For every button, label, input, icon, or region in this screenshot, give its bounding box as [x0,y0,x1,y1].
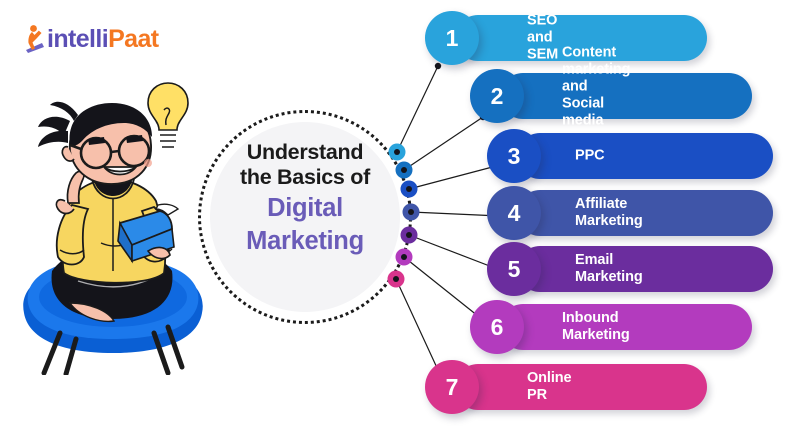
item-label: Online PR [527,370,572,404]
item-label: Content marketing andSocial media market… [562,45,630,148]
item-label: Affiliate Marketing [575,196,643,230]
hub-title: Understand the Basics of Digital Marketi… [204,140,406,257]
hub-title-line2: the Basics of [204,165,406,190]
item-number-badge[interactable]: 2 [470,69,524,123]
item-number-badge[interactable]: 7 [425,360,479,414]
item-label: Email Marketing [575,252,643,286]
item-bar[interactable] [517,133,773,179]
hub-connector-dot-core [393,276,399,282]
logo-figure-icon [20,23,46,55]
item-number-badge[interactable]: 3 [487,129,541,183]
connector-line [404,117,483,170]
person-reading-book-illustration [8,75,223,375]
connector-line [409,165,500,189]
connector-line [404,257,483,320]
hub-title-line1: Understand [204,140,406,165]
connector-line [396,279,438,370]
person-head [38,102,152,184]
person-pointing-arm [56,171,88,264]
infographic-canvas: intelliPaat [0,0,800,434]
item-connector-dot [435,63,441,69]
lightbulb-icon [148,83,188,147]
item-label: PPC [575,147,605,164]
item-number-badge[interactable]: 6 [470,300,524,354]
item-bar[interactable] [455,364,707,410]
item-bar[interactable] [517,190,773,236]
item-label: SEO and SEM [527,12,558,63]
logo-text-primary: intelli [47,27,108,52]
item-number-badge[interactable]: 4 [487,186,541,240]
logo-text-secondary: Paat [108,27,158,52]
hub-title-line4: Marketing [204,227,406,257]
item-number-badge[interactable]: 1 [425,11,479,65]
item-number-badge[interactable]: 5 [487,242,541,296]
intellipaat-logo[interactable]: intelliPaat [20,22,159,56]
item-label: Inbound Marketing [562,310,630,344]
item-bar[interactable] [517,246,773,292]
hub-title-line3: Digital [204,194,406,224]
